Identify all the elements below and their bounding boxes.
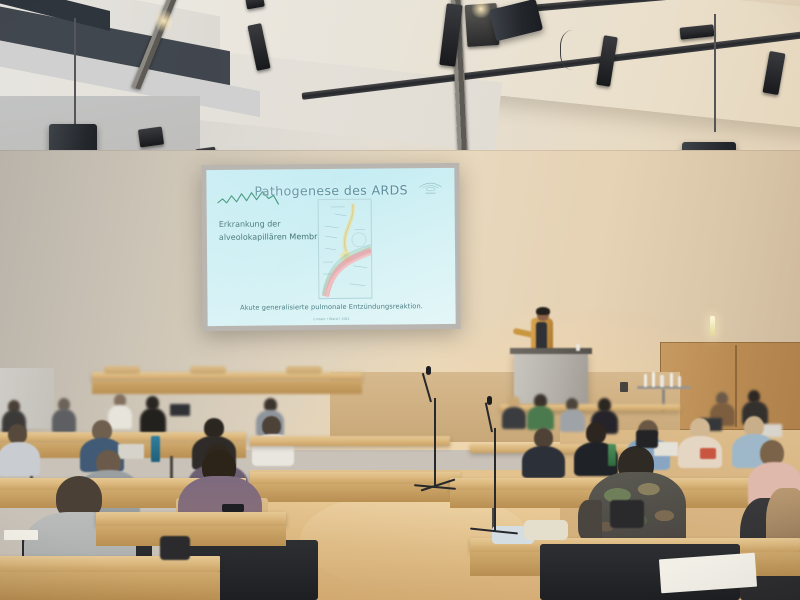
paper-handout-1 — [4, 530, 38, 540]
lectern — [514, 352, 588, 404]
open-laptop-f1 — [170, 404, 190, 416]
lecture-desk-row4 — [96, 512, 286, 526]
lecture-desk-mid-center — [250, 436, 450, 446]
audience-body-m4 — [0, 442, 40, 476]
lecture-desk-far-right — [500, 404, 680, 411]
speaker-hang-rod-right — [714, 14, 716, 132]
presenter-hair — [536, 307, 550, 315]
lecture-desk-front-row-face — [0, 572, 220, 600]
glassware-3 — [660, 375, 664, 387]
university-crest-logo — [415, 177, 445, 197]
audience-head-m3 — [262, 416, 281, 436]
lecture-chair-far-1 — [104, 366, 140, 374]
truss-light-a[interactable] — [138, 126, 164, 147]
slide-footer-text: Akute generalisierte pulmonale Entzündun… — [207, 302, 455, 312]
speaker-hang-rod-left — [74, 18, 76, 124]
ceiling-cable — [560, 30, 591, 70]
spotlight-glow — [470, 0, 492, 18]
lecture-chair-far-2 — [190, 366, 226, 374]
audience-body-f1 — [140, 408, 166, 434]
glassware-2 — [652, 372, 655, 387]
spotlight-glow-2 — [156, 6, 172, 36]
lecture-chair-far-3 — [286, 366, 322, 374]
red-cup — [700, 448, 716, 459]
audience-head-rr1 — [586, 422, 606, 444]
wall-socket — [620, 382, 628, 392]
audience-head-m4 — [8, 424, 27, 444]
lecture-desk-front-row4 — [96, 526, 286, 546]
slide-title: Pathogenese des ARDS — [254, 182, 408, 198]
lectern-glass — [576, 344, 580, 351]
backpack-on-floor-1 — [160, 536, 190, 560]
lecture-hall-screenshot: Pathogenese des ARDS Erkrankung der alve… — [0, 0, 800, 600]
audience-body-r3 — [560, 409, 585, 432]
backpack-on-floor-2 — [610, 500, 644, 528]
water-bottle-1 — [151, 436, 160, 462]
audience-body-f5 — [108, 405, 132, 429]
wall-light-fixture — [710, 316, 715, 336]
audience-body-r1 — [502, 407, 526, 429]
cap-on-desk — [524, 520, 568, 540]
glassware-4 — [670, 373, 673, 387]
diagram-svg — [319, 200, 372, 298]
audience-head-rr2 — [534, 428, 553, 448]
water-bottle-2 — [608, 444, 616, 466]
audience-body-f2 — [52, 409, 76, 433]
projection-screen-frame: Pathogenese des ARDS Erkrankung der alve… — [201, 163, 460, 331]
lecture-desk-row3-center — [250, 472, 460, 484]
audience-head-m1 — [204, 418, 224, 438]
open-laptop-m1 — [118, 444, 144, 459]
lecture-desk-front-far-left — [92, 380, 362, 394]
alveolar-capillary-membrane-diagram — [318, 199, 373, 299]
wall-seam-line — [0, 150, 800, 151]
slide-citation: Lorrain • Ward • 2011 — [208, 316, 456, 322]
glassware-1 — [644, 374, 647, 387]
projection-screen: Pathogenese des ARDS Erkrankung der alve… — [206, 168, 455, 326]
backpack-on-floor-3 — [636, 430, 658, 448]
audience-body-r2 — [527, 406, 554, 430]
smartphone-on-desk — [222, 504, 244, 512]
paper-handout-2 — [659, 553, 757, 594]
audience-body-rr2 — [522, 446, 565, 478]
glassware-5 — [678, 376, 681, 387]
audience-arm-tropical — [578, 500, 602, 540]
